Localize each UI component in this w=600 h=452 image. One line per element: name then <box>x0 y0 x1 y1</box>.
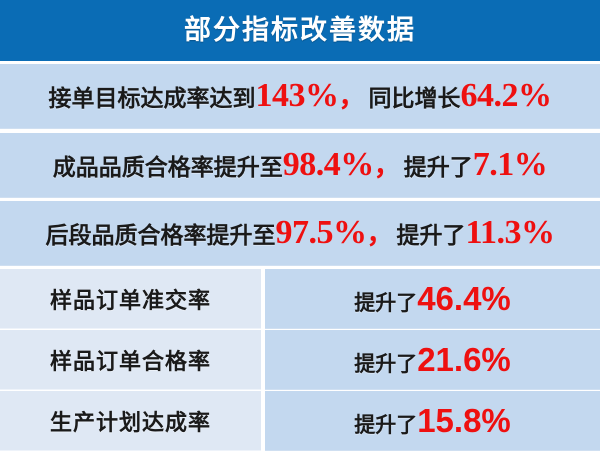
metric-value-cell-1: 提升了 46.4% <box>265 269 600 329</box>
statement-separator-2: ， <box>374 153 404 180</box>
metric-name-2: 样品订单合格率 <box>50 344 211 376</box>
metric-value-prefix-3: 提升了 <box>354 415 417 436</box>
metric-value-3: 15.8% <box>417 404 511 437</box>
metric-value-cell-2: 提升了 21.6% <box>265 330 600 390</box>
statement-separator-1: ， <box>339 84 369 111</box>
statement-value-3b: 11.3% <box>465 216 554 250</box>
metric-value-prefix-1: 提升了 <box>354 293 417 314</box>
metric-name-cell-1: 样品订单准交率 <box>0 269 261 329</box>
statement-middle-2: 提升了 <box>404 156 473 179</box>
metric-value-2: 21.6% <box>417 343 511 376</box>
metric-row-1: 样品订单准交率 提升了 46.4% <box>0 269 600 329</box>
statement-prefix-3: 后段品质合格率提升至 <box>45 224 275 247</box>
metric-value-prefix-2: 提升了 <box>354 354 417 375</box>
statement-prefix-1: 接单目标达成率达到 <box>49 87 256 110</box>
statement-value-3a: 97.5% <box>275 216 366 250</box>
metric-value-cell-3: 提升了 15.8% <box>265 391 600 451</box>
statement-value-2b: 7.1% <box>473 148 548 182</box>
statement-row-1: 接单目标达成率达到 143% ， 同比增长 64.2% <box>0 64 600 129</box>
metric-name-1: 样品订单准交率 <box>50 283 211 315</box>
metric-value-text: 提升了 15.8% <box>354 404 511 437</box>
statement-text: 成品品质合格率提升至 98.4% ， 提升了 7.1% <box>53 148 548 182</box>
statement-row-2: 成品品质合格率提升至 98.4% ， 提升了 7.1% <box>0 133 600 198</box>
metric-value-1: 46.4% <box>417 282 511 315</box>
statement-middle-3: 提升了 <box>396 224 465 247</box>
metric-name-cell-2: 样品订单合格率 <box>0 330 261 390</box>
statement-value-1b: 64.2% <box>461 79 552 113</box>
metric-row-2: 样品订单合格率 提升了 21.6% <box>0 330 600 390</box>
metrics-board: 部分指标改善数据 接单目标达成率达到 143% ， 同比增长 64.2% 成品品… <box>0 0 600 452</box>
metric-value-text: 提升了 46.4% <box>354 282 511 315</box>
metric-name-cell-3: 生产计划达成率 <box>0 391 261 451</box>
statement-middle-1: 同比增长 <box>369 87 461 110</box>
statement-separator-3: ， <box>366 221 396 248</box>
board-header: 部分指标改善数据 <box>0 0 600 61</box>
statement-row-3: 后段品质合格率提升至 97.5% ， 提升了 11.3% <box>0 201 600 266</box>
metric-value-text: 提升了 21.6% <box>354 343 511 376</box>
statement-value-2a: 98.4% <box>283 148 374 182</box>
page-title: 部分指标改善数据 <box>184 17 416 44</box>
metric-row-3: 生产计划达成率 提升了 15.8% <box>0 391 600 451</box>
statement-value-1a: 143% <box>256 79 339 113</box>
statement-text: 后段品质合格率提升至 97.5% ， 提升了 11.3% <box>45 216 554 250</box>
metric-name-3: 生产计划达成率 <box>50 405 211 437</box>
statement-prefix-2: 成品品质合格率提升至 <box>53 156 283 179</box>
statement-text: 接单目标达成率达到 143% ， 同比增长 64.2% <box>49 79 552 113</box>
